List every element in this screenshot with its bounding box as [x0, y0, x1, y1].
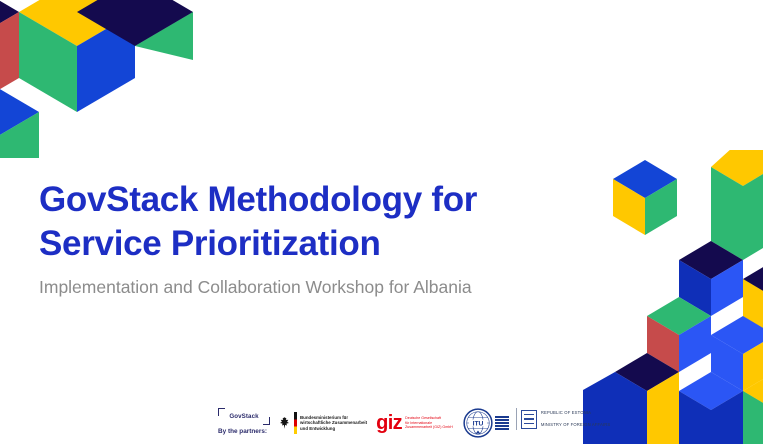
mark-bar [495, 428, 509, 430]
crest-bar [524, 414, 534, 416]
cube-right-face [743, 162, 763, 260]
estonia-line1: REPUBLIC OF ESTONIA [541, 410, 611, 416]
cube-top-face [135, 12, 193, 46]
estonia-name: REPUBLIC OF ESTONIA MINISTRY OF FOREIGN … [541, 404, 611, 434]
crest-bar [524, 418, 534, 420]
logo-govstack: GovStack By the partners: [218, 408, 270, 435]
logo-bmz: Bundesministerium für wirtschaftliche Zu… [278, 408, 367, 438]
bracket-top-left-icon [218, 408, 225, 416]
cube-right-face [0, 112, 39, 158]
partners-tagline: By the partners: [218, 428, 267, 435]
cube-right-face [647, 372, 679, 444]
cube-top-face [743, 260, 763, 298]
govstack-wordmark: GovStack [229, 413, 258, 420]
cube-right-face [743, 279, 763, 335]
mark-bar [495, 422, 509, 424]
cube-top-face [0, 78, 39, 146]
cube-top-face [679, 241, 743, 279]
itu-globe-icon: ITU [463, 408, 493, 438]
logo-estonia-mfa: REPUBLIC OF ESTONIA MINISTRY OF FOREIGN … [516, 408, 611, 430]
estonia-line2: MINISTRY OF FOREIGN AFFAIRS [541, 422, 611, 428]
title-block: GovStack Methodology for Service Priorit… [39, 178, 599, 298]
cube-right-face [743, 391, 763, 444]
itu-secondary-mark [495, 416, 509, 430]
cube-right-face [711, 391, 743, 444]
crest-bar [524, 423, 534, 425]
cube-left-face [679, 260, 711, 316]
page-subtitle: Implementation and Collaboration Worksho… [39, 276, 599, 298]
cube-top-face [77, 0, 193, 46]
cube-left-face [647, 316, 679, 372]
estonia-crest-icon [521, 410, 537, 429]
cube-top-face [711, 316, 763, 354]
mark-bar [495, 425, 509, 427]
cube-top-face [19, 0, 135, 46]
cube-top-face [647, 297, 711, 335]
logo-itu: ITU [463, 408, 509, 438]
cube-right-face [711, 260, 743, 316]
cube-top-face [743, 372, 763, 410]
giz-wordmark: giz [376, 413, 402, 433]
cube-left-face [711, 335, 743, 391]
decorative-cubes-right [583, 150, 763, 444]
cube-top-face [0, 0, 19, 46]
bmz-name: Bundesministerium für wirtschaftliche Zu… [300, 415, 367, 432]
mark-bar [495, 419, 509, 421]
cube-right-face [0, 12, 19, 112]
cube-left-face [19, 12, 77, 112]
mark-bar [495, 416, 509, 418]
giz-name: Deutsche Gesellschaft für Internationale… [405, 416, 453, 430]
cube-top-face [679, 372, 743, 410]
cube-cluster-svg [583, 150, 763, 444]
svg-text:ITU: ITU [472, 420, 483, 427]
cube-left-face [679, 391, 711, 444]
presentation-slide: GovStack Methodology for Service Priorit… [0, 0, 763, 444]
bracket-bottom-right-icon [263, 417, 270, 425]
cube-right-face [77, 12, 135, 112]
german-flag-bar [294, 412, 297, 434]
logo-giz: giz Deutsche Gesellschaft für Internatio… [376, 408, 453, 438]
cube-top-face [711, 150, 763, 186]
german-eagle-icon [278, 416, 291, 430]
decorative-cubes-top-left [0, 0, 200, 180]
cube-left-face [613, 179, 645, 235]
cube-left-face [743, 279, 763, 335]
page-title: GovStack Methodology for Service Priorit… [39, 178, 599, 266]
cube-right-face [679, 316, 711, 372]
cube-top-face [613, 160, 677, 198]
cube-left-face [711, 167, 743, 260]
cube-top-face [615, 353, 679, 391]
govstack-bracket-mark: GovStack [218, 408, 270, 425]
cube-left-face [615, 372, 647, 444]
cube-left-face [743, 391, 763, 444]
cube-right-face [645, 179, 677, 235]
partner-logo-strip: GovStack By the partners: Bundesminister… [218, 408, 610, 444]
cube-right-face [135, 12, 193, 60]
cube-right-face [743, 335, 763, 391]
cube-cluster-svg [0, 0, 200, 180]
